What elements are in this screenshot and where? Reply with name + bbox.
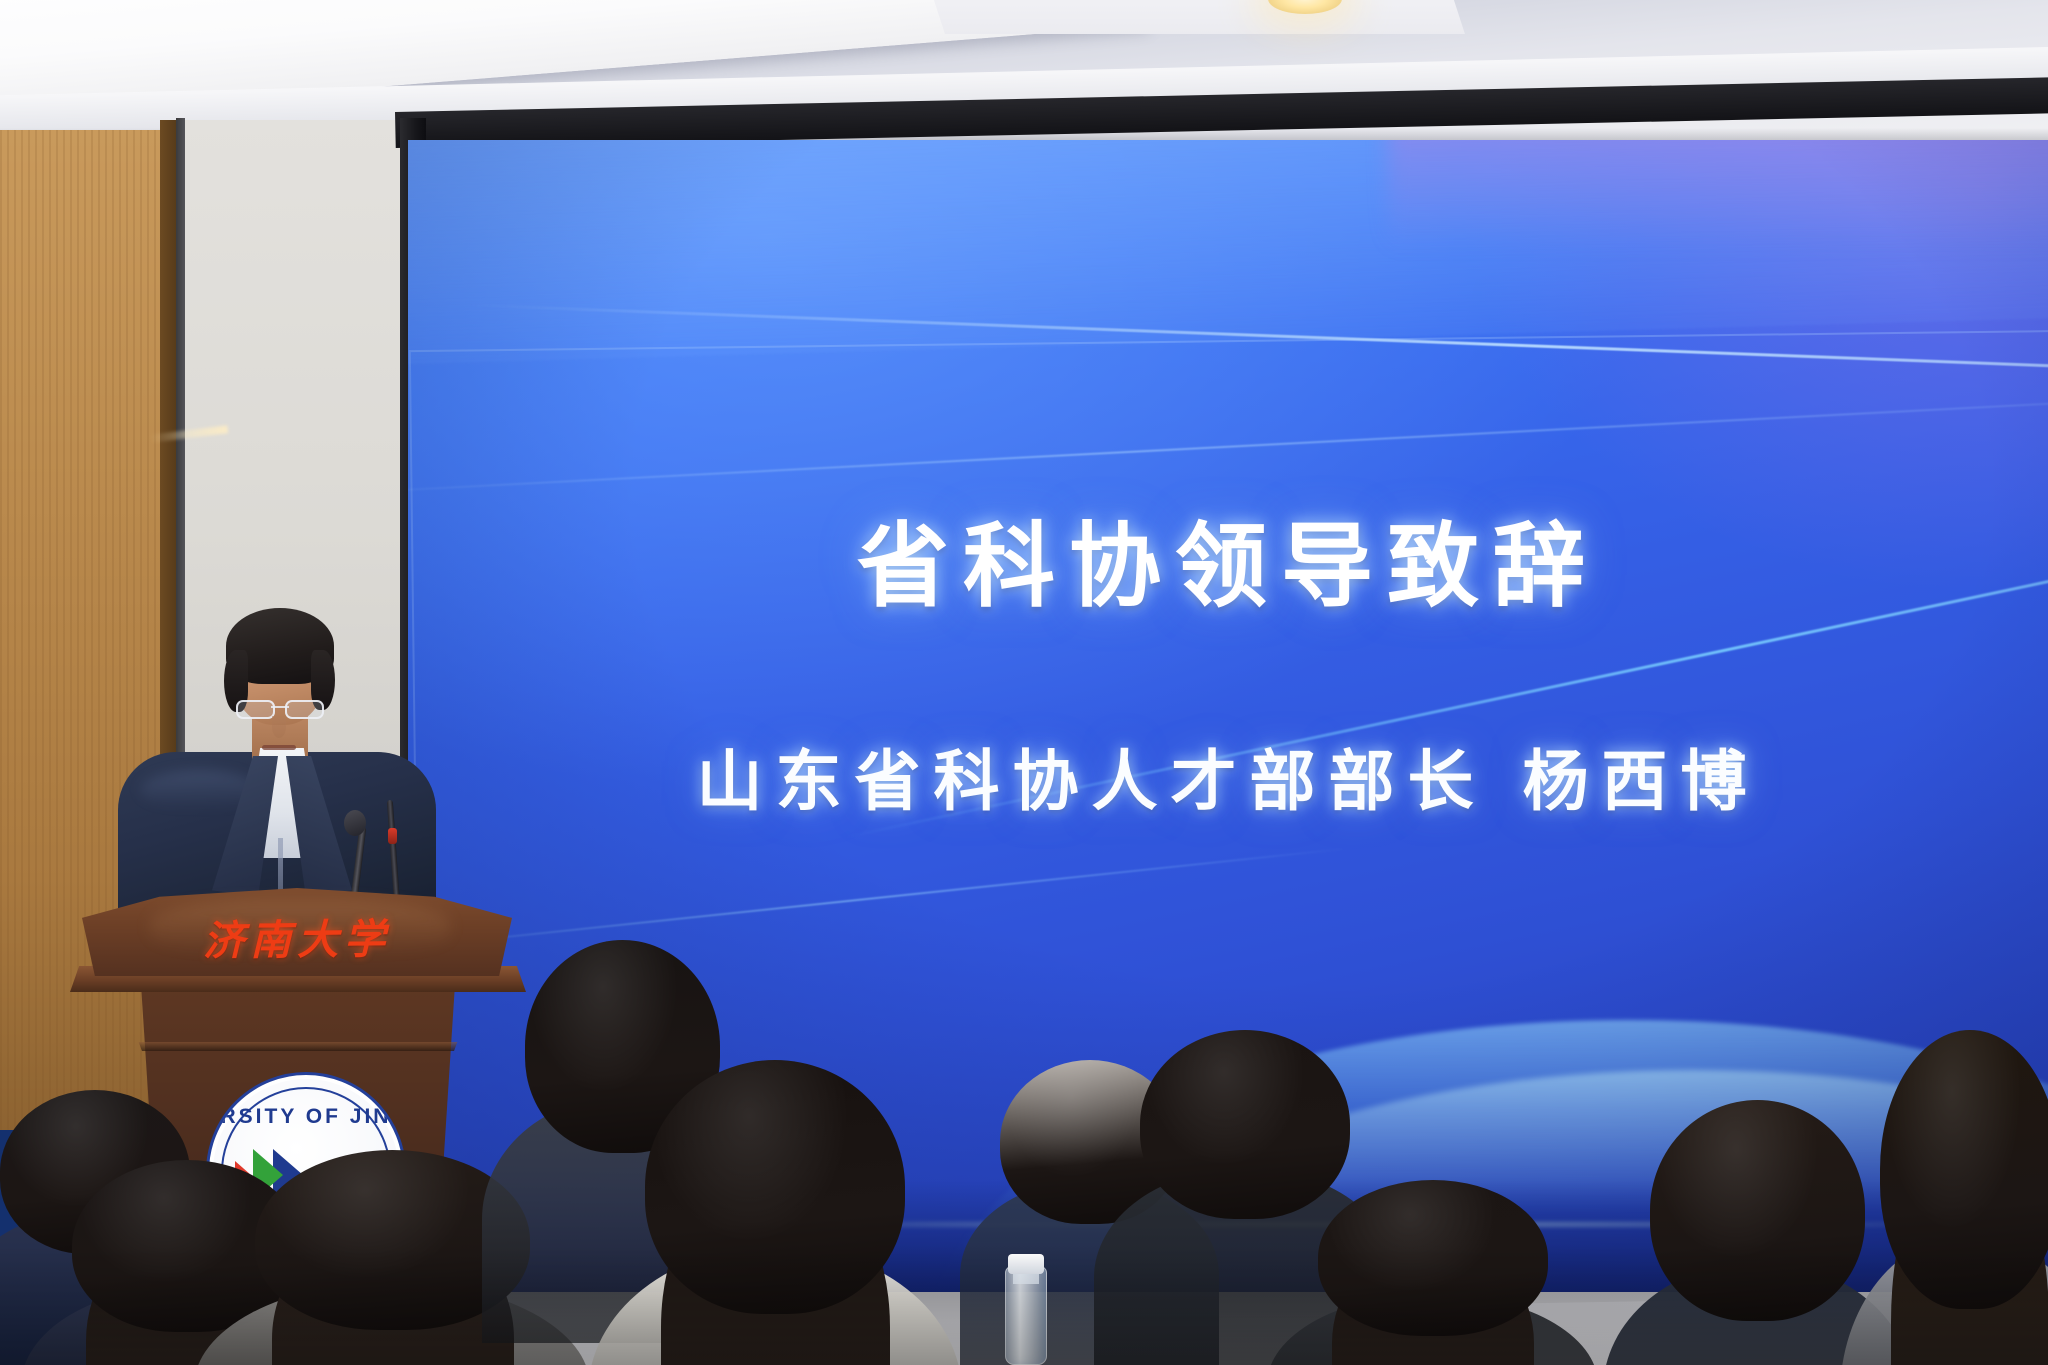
audience-head — [645, 1060, 905, 1314]
seal-text: RSITY OF JIN — [209, 1105, 403, 1129]
audience-head — [1650, 1100, 1865, 1321]
slide-title: 省科协领导致辞 — [408, 492, 2048, 625]
audience-member-10 — [1880, 1030, 2048, 1365]
microphone-head-1 — [344, 810, 366, 836]
audience-head — [1880, 1030, 2048, 1309]
slide-subtitle: 山东省科协人才部部长 杨西博 — [408, 728, 2048, 824]
audience-head — [1318, 1180, 1548, 1336]
audience-member-9 — [1650, 1100, 1865, 1365]
speaker-mouth — [262, 745, 296, 750]
podium-groove — [132, 1042, 464, 1051]
audience-member-8 — [1318, 1180, 1548, 1365]
speaker-glasses — [236, 700, 324, 717]
water-bottle-cap — [1008, 1254, 1044, 1274]
podium-nameplate: 济南大学 — [82, 904, 513, 968]
conference-hall-scene: 省科协领导致辞 山东省科协人才部部长 杨西博 济南大学 RSIT — [0, 0, 2048, 1365]
audience-member-5 — [645, 1060, 905, 1365]
ceiling-soffit-panel-right — [915, 0, 1465, 34]
speaker-nose — [272, 716, 286, 738]
microphone-indicator-icon — [388, 828, 397, 844]
